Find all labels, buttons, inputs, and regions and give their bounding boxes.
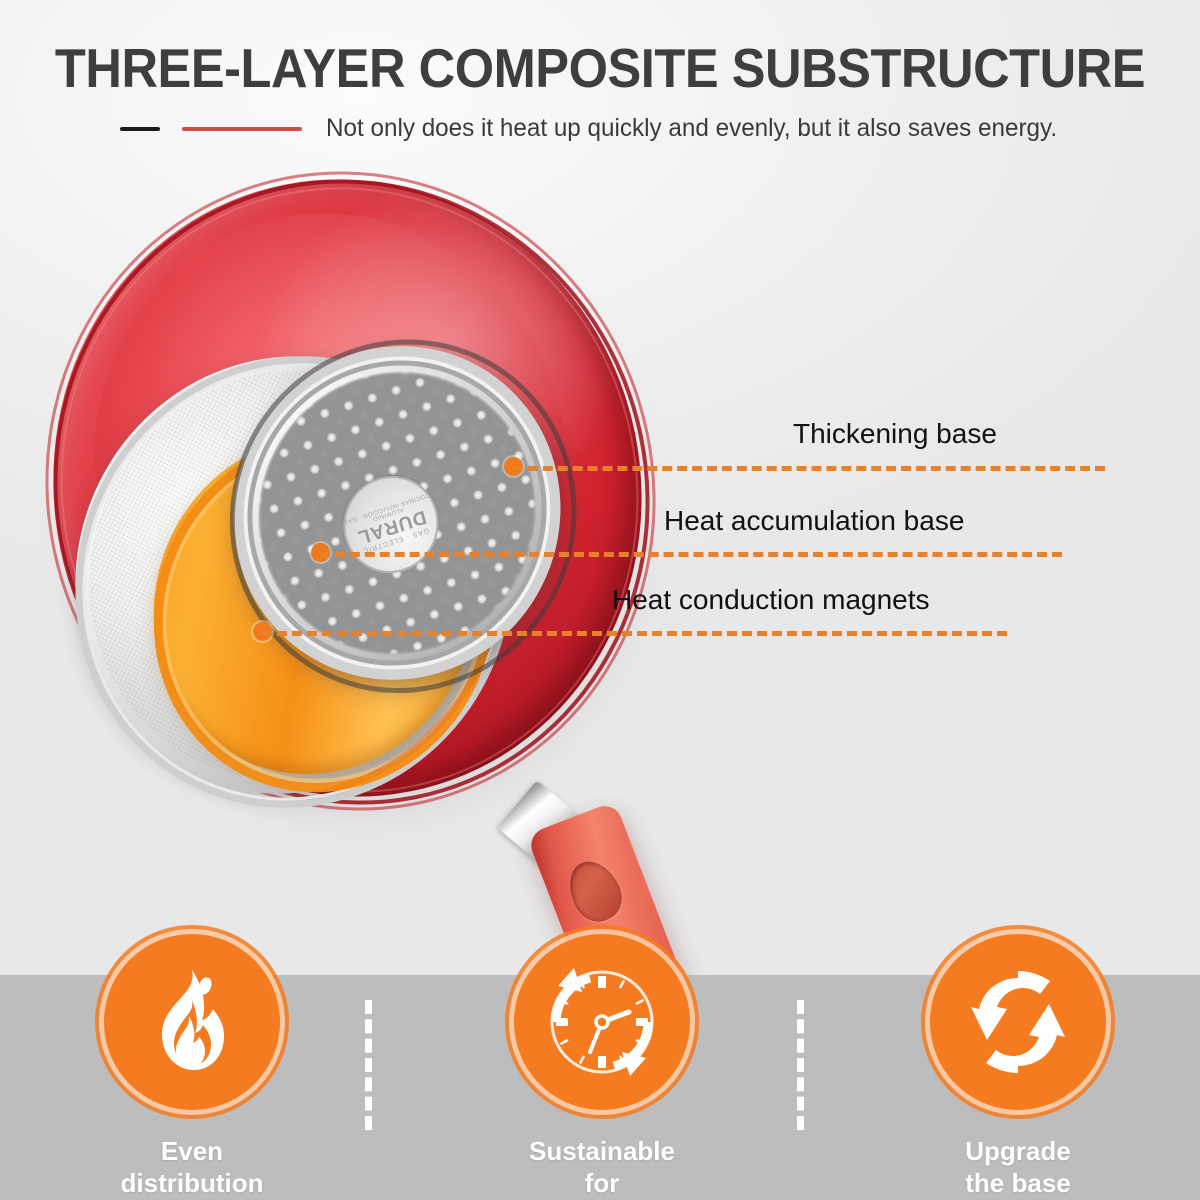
page-subtitle: Not only does it heat up quickly and eve… [326, 114, 1057, 143]
red-rule-icon [182, 127, 302, 131]
subtitle-row: Not only does it heat up quickly and eve… [0, 114, 1200, 143]
feature-divider-2 [797, 1000, 804, 1130]
callout-label-1: Thickening base [793, 418, 997, 450]
black-rule-icon [120, 127, 160, 131]
callout-line-3 [262, 631, 1007, 636]
infographic-root: THREE-LAYER COMPOSITE SUBSTRUCTURE Not o… [0, 0, 1200, 1200]
callout-label-2: Heat accumulation base [664, 505, 964, 537]
feature-divider-1 [365, 1000, 372, 1130]
refresh-icon [958, 962, 1078, 1082]
feature-icon-circle-2 [514, 934, 690, 1110]
callout-line-2 [320, 552, 1062, 557]
feature-label-2: Sustainable for a long time [512, 1136, 692, 1200]
callout-line-1 [513, 466, 1105, 471]
feature-label-1-line1: Even distribution [102, 1136, 282, 1199]
feature-label-3: Upgrade the base [928, 1136, 1108, 1199]
page-title: THREE-LAYER COMPOSITE SUBSTRUCTURE [48, 36, 1152, 100]
feature-label-2-line1: Sustainable for [512, 1136, 692, 1199]
feature-icon-circle-3 [930, 934, 1106, 1110]
flame-icon [142, 964, 242, 1080]
feature-label-3-line1: Upgrade [928, 1136, 1108, 1168]
clock-icon [536, 956, 668, 1088]
feature-icon-circle-1 [104, 934, 280, 1110]
feature-label-3-line2: the base [928, 1168, 1108, 1200]
feature-even-heat[interactable]: Even distribution of heat [102, 934, 282, 1200]
feature-upgrade-base[interactable]: Upgrade the base [928, 934, 1108, 1199]
feature-label-1: Even distribution of heat [102, 1136, 282, 1200]
product-photo: GAS · ELECTRIC DURAL ALUMINIO COCINAS IN… [0, 150, 1200, 1010]
callout-label-3: Heat conduction magnets [612, 584, 930, 616]
feature-sustainable[interactable]: Sustainable for a long time [512, 934, 692, 1200]
